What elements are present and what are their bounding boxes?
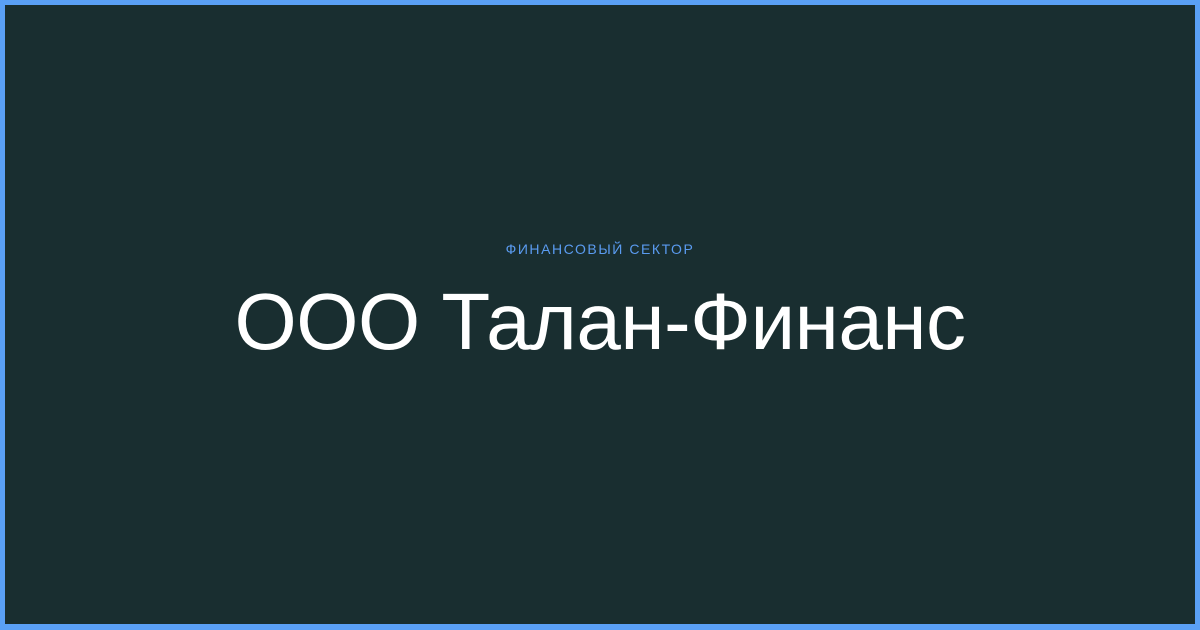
card-content: ФИНАНСОВЫЙ СЕКТОР ООО Талан-Финанс [5, 241, 1195, 364]
sector-eyebrow-label: ФИНАНСОВЫЙ СЕКТОР [506, 241, 695, 258]
company-name-title: ООО Талан-Финанс [234, 280, 965, 364]
og-preview-card: ФИНАНСОВЫЙ СЕКТОР ООО Талан-Финанс [0, 0, 1200, 630]
